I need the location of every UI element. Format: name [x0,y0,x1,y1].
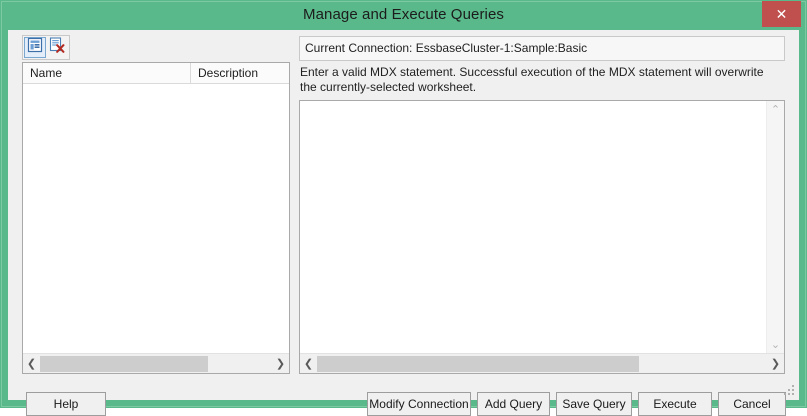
query-toolbar [22,35,70,60]
mdx-editor-panel: ⌃ ⌄ ❮ ❯ [299,100,785,374]
mdx-hscrollbar[interactable]: ❮ ❯ [300,353,784,373]
add-query-button[interactable]: Add Query [477,392,550,416]
query-list-panel: Name Description ❮ ❯ [22,62,290,374]
mdx-vscrollbar[interactable]: ⌃ ⌄ [766,101,784,353]
current-connection-field: Current Connection: EssbaseCluster-1:Sam… [299,36,785,61]
query-list-hscrollbar[interactable]: ❮ ❯ [23,353,289,373]
query-list-hscroll-track[interactable] [40,355,272,373]
save-query-button[interactable]: Save Query [556,392,632,416]
mdx-hscroll-thumb[interactable] [317,356,639,372]
new-query-icon [27,37,43,58]
execute-button[interactable]: Execute [638,392,712,416]
mdx-statement-input[interactable] [300,101,766,353]
dialog-body: Name Description ❮ ❯ Current Connection:… [8,30,799,400]
query-list-hscroll-thumb[interactable] [40,356,208,372]
modify-connection-button[interactable]: Modify Connection [367,392,471,416]
query-list-header: Name Description [23,63,289,84]
scroll-up-icon[interactable]: ⌃ [767,101,784,118]
instruction-text: Enter a valid MDX statement. Successful … [300,65,780,95]
new-query-button[interactable] [24,37,46,58]
scroll-left-icon[interactable]: ❮ [300,355,317,373]
close-icon[interactable]: ✕ [762,1,801,27]
column-header-description[interactable]: Description [191,63,289,84]
query-list-rows[interactable] [23,84,289,353]
delete-query-button[interactable] [46,37,68,58]
title-bar[interactable]: Manage and Execute Queries ✕ [0,0,807,30]
scroll-right-icon[interactable]: ❯ [272,355,289,373]
scroll-right-icon[interactable]: ❯ [767,355,784,373]
delete-query-icon [49,37,65,58]
dialog-window: Manage and Execute Queries ✕ [0,0,807,408]
cancel-button[interactable]: Cancel [718,392,786,416]
page-title: Manage and Execute Queries [0,0,807,30]
resize-grip[interactable] [784,385,796,397]
help-button[interactable]: Help [26,392,106,416]
scroll-left-icon[interactable]: ❮ [23,355,40,373]
scroll-down-icon[interactable]: ⌄ [767,336,784,353]
column-header-name[interactable]: Name [23,63,191,84]
mdx-hscroll-track[interactable] [317,355,767,373]
